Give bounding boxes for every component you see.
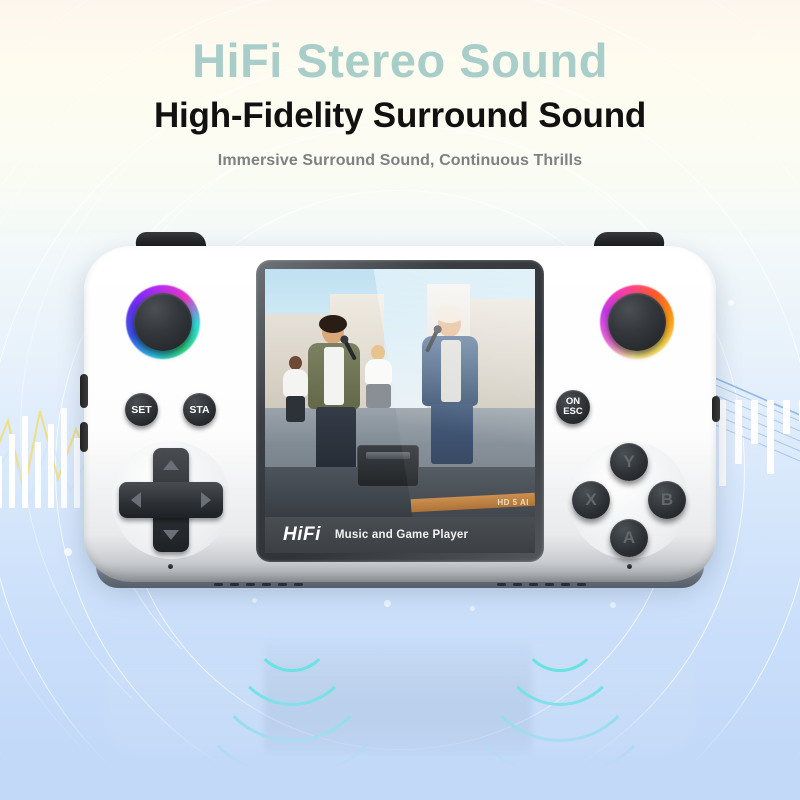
equalizer-bar [735,400,742,464]
speaker-slot [513,583,522,586]
right-side-port [712,396,720,422]
sta-button[interactable]: STA [183,393,216,426]
speaker-slot [230,583,239,586]
speaker-slot [497,583,506,586]
equalizer-bar [9,434,15,508]
speaker-slot [262,583,271,586]
equalizer-bar [22,416,28,508]
speaker-slot [294,583,303,586]
headline-block: HiFi Stereo Sound High-Fidelity Surround… [0,36,800,170]
equalizer-bar [719,400,726,486]
on-esc-line2: ESC [563,407,583,417]
right-stick-knob[interactable] [608,293,666,351]
dpad-left-icon[interactable] [131,492,141,508]
left-side-port-lower [80,422,88,452]
dpad-down-icon[interactable] [163,530,179,540]
screen-bezel: HD 5 AI HiFi Music and Game Player [256,260,544,562]
speaker-slot [214,583,223,586]
subtitle: Immersive Surround Sound, Continuous Thr… [0,152,800,170]
main-title: High-Fidelity Surround Sound [0,96,800,136]
screen-label-bar: HiFi Music and Game Player [265,517,535,553]
speaker-slot [529,583,538,586]
left-stick-knob[interactable] [134,293,192,351]
equalizer-bar [48,424,54,508]
speaker-slot [246,583,255,586]
equalizer-bar [61,408,67,508]
button-a[interactable]: A [610,519,648,557]
equalizer-bar [767,400,774,474]
set-button[interactable]: SET [125,393,158,426]
speaker-slot [545,583,554,586]
right-pinhole-mic [627,564,632,569]
handheld-game-console: HD 5 AI HiFi Music and Game Player SET S… [84,232,716,582]
speaker-grille-left [214,583,303,586]
equalizer-bar [35,442,41,508]
speaker-slot [577,583,586,586]
dpad-up-icon[interactable] [163,460,179,470]
equalizer-bar [0,456,2,508]
left-side-port-upper [80,374,88,408]
speaker-slot [278,583,287,586]
button-b[interactable]: B [648,481,686,519]
screen-label-text: Music and Game Player [335,529,468,541]
console-shell: HD 5 AI HiFi Music and Game Player SET S… [84,246,716,582]
button-x[interactable]: X [572,481,610,519]
face-button-cluster: Y X B A [570,441,688,559]
on-esc-button[interactable]: ON ESC [556,390,590,424]
equalizer-bar [783,400,790,434]
button-y[interactable]: Y [610,443,648,481]
screen-photo: HD 5 AI [265,269,535,517]
sparkle-dot [64,548,72,556]
left-pinhole-mic [168,564,173,569]
equalizer-bar [751,400,758,444]
speaker-slot [561,583,570,586]
d-pad[interactable] [119,448,223,552]
right-analog-stick[interactable] [600,285,674,359]
hifi-logo: HiFi [283,524,321,546]
display-screen[interactable]: HD 5 AI [265,269,535,517]
speaker-grille-right [497,583,586,586]
left-analog-stick[interactable] [126,285,200,359]
dpad-right-icon[interactable] [201,492,211,508]
eyebrow-title: HiFi Stereo Sound [0,36,800,87]
bottom-gradient-fade [0,680,800,800]
sparkle-dot [728,300,734,306]
